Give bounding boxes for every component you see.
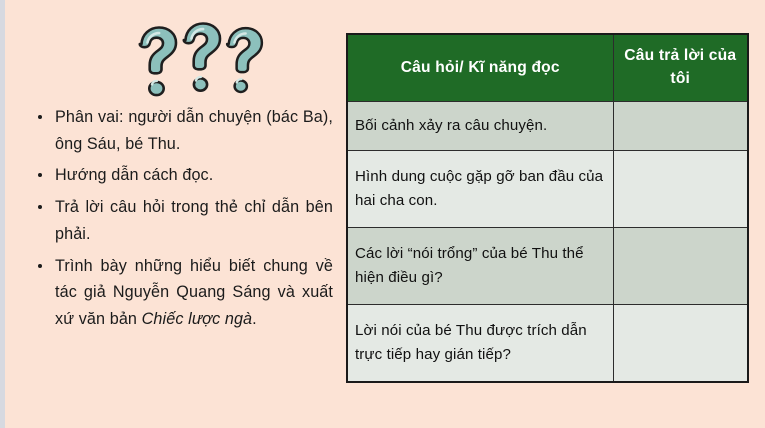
list-item: Hướng dẫn cách đọc. [33,162,333,189]
list-item: Phân vai: người dẫn chuyện (bác Ba), ông… [33,104,333,157]
question-text: Lời nói của bé Thu được trích dẫn trực t… [355,319,607,368]
work-title-italic: Chiếc lược ngà [142,310,253,328]
question-cell: Hình dung cuộc gặp gỡ ban đầu của hai ch… [347,151,613,228]
question-mark-icon-middle [184,24,220,91]
question-text: Các lời “nói trổng” của bé Thu thể hiện … [355,242,607,291]
question-mark-icon-group [123,18,269,102]
list-item: Trả lời câu hỏi trong thẻ chỉ dẫn bên ph… [33,194,333,247]
table-row: Lời nói của bé Thu được trích dẫn trực t… [347,305,748,383]
question-text: Hình dung cuộc gặp gỡ ban đầu của hai ch… [355,165,607,214]
answer-cell[interactable] [613,305,748,383]
question-mark-icon-left [140,28,176,96]
question-cell: Các lời “nói trổng” của bé Thu thể hiện … [347,228,613,305]
table-header: Câu hỏi/ Kĩ năng đọc Câu trả lời của tôi [347,34,748,102]
column-header-answer: Câu trả lời của tôi [613,34,748,102]
bullet-item-label: Trả lời câu hỏi trong thẻ chỉ dẫn bên ph… [55,198,333,243]
list-item: Trình bày những hiểu biết chung về tác g… [33,253,333,333]
question-marks-decoration [123,18,269,102]
reading-guide-table: Câu hỏi/ Kĩ năng đọc Câu trả lời của tôi… [346,33,749,383]
bullet-item-label: Phân vai: người dẫn chuyện (bác Ba), ông… [55,108,333,153]
question-cell: Lời nói của bé Thu được trích dẫn trực t… [347,305,613,383]
instruction-bullet-list: Phân vai: người dẫn chuyện (bác Ba), ông… [33,104,333,333]
bullet-item-label: Trình bày những hiểu biết chung về tác g… [55,257,333,328]
table-header-row: Câu hỏi/ Kĩ năng đọc Câu trả lời của tôi [347,34,748,102]
table-body: Bối cảnh xảy ra câu chuyện. Hình dung cu… [347,102,748,383]
question-text: Bối cảnh xảy ra câu chuyện. [355,114,607,138]
bullet-item-label: Hướng dẫn cách đọc. [55,166,213,184]
table-row: Các lời “nói trổng” của bé Thu thể hiện … [347,228,748,305]
column-header-question: Câu hỏi/ Kĩ năng đọc [347,34,613,102]
slide-canvas: Phân vai: người dẫn chuyện (bác Ba), ông… [5,0,765,428]
table-row: Hình dung cuộc gặp gỡ ban đầu của hai ch… [347,151,748,228]
table-row: Bối cảnh xảy ra câu chuyện. [347,102,748,151]
question-mark-icon-right [227,28,262,92]
bullet-item-text-after: . [252,310,257,328]
answer-cell[interactable] [613,151,748,228]
answer-cell[interactable] [613,102,748,151]
answer-cell[interactable] [613,228,748,305]
question-cell: Bối cảnh xảy ra câu chuyện. [347,102,613,151]
